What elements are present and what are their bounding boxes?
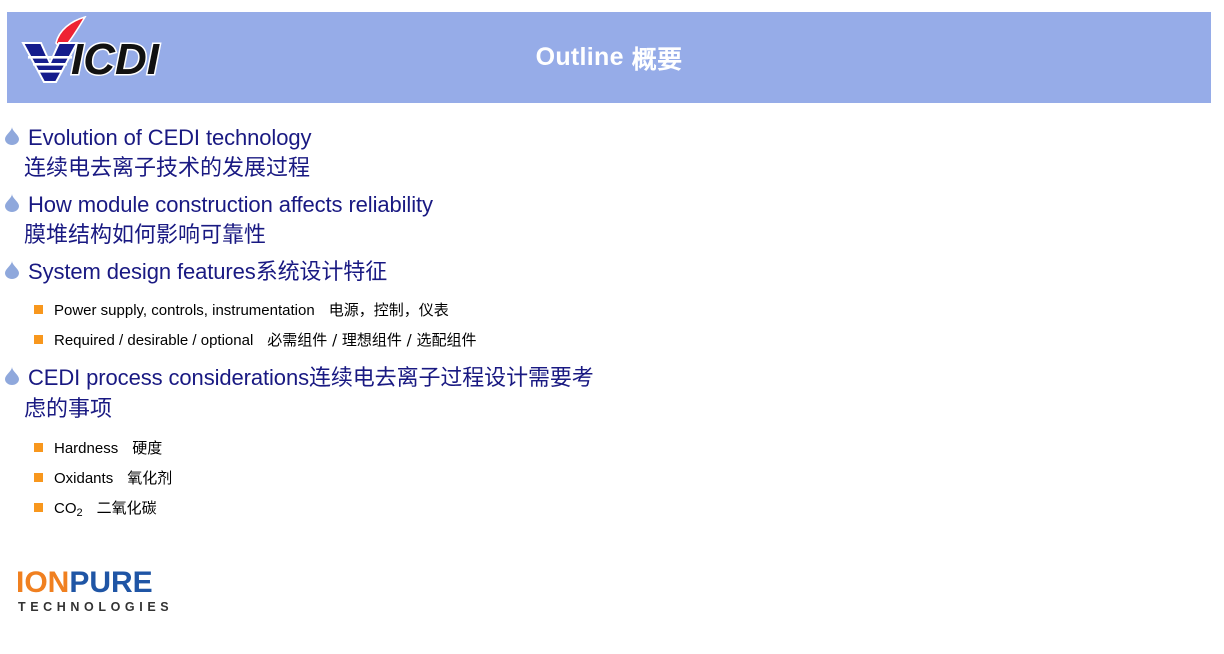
outline-item-4-child-1-label: Hardness硬度 — [54, 436, 1224, 461]
ionpure-wordmark-ion: ION — [16, 566, 69, 599]
child-label-en: Required / desirable / optional — [54, 332, 253, 349]
child-label-cjk: 硬度 — [118, 439, 162, 457]
child-label-en: Hardness — [54, 440, 118, 457]
v-line-2 — [33, 63, 67, 66]
outline-item-1-translation: 连续电去离子技术的发展过程 — [0, 153, 1224, 185]
v-shape — [23, 43, 77, 82]
orange-square-icon — [34, 503, 43, 512]
v-line-3 — [38, 70, 62, 73]
page-title-en: Outline — [536, 43, 624, 72]
child-label-cjk: 必需组件 / 理想组件 / 选配组件 — [253, 331, 476, 349]
icdi-logo: ICDI — [15, 16, 195, 88]
page-title-cjk: 概要 — [624, 40, 683, 76]
spacer — [0, 426, 1224, 432]
outline-item-3-child-2-label: Required / desirable / optional必需组件 / 理想… — [54, 328, 1224, 353]
water-drop-icon — [4, 194, 20, 212]
ionpure-wordmark-pure: PURE — [69, 566, 152, 599]
outline-item-4-child-1[interactable]: Hardness硬度 — [0, 436, 1224, 462]
v-line-1 — [28, 56, 72, 59]
outline-item-3-child-1-label: Power supply, controls, instrumentation电… — [54, 298, 1224, 323]
orange-square-icon — [34, 335, 43, 344]
outline-item-3-child-2[interactable]: Required / desirable / optional必需组件 / 理想… — [0, 328, 1224, 354]
outline-item-4-child-2[interactable]: Oxidants氧化剂 — [0, 466, 1224, 492]
ionpure-logo: IONPURE TECHNOLOGIES — [16, 567, 173, 615]
ionpure-tagline: TECHNOLOGIES — [16, 599, 173, 615]
outline-item-4-child-3-label: CO2二氧化碳 — [54, 496, 1224, 525]
outline-content: Evolution of CEDI technology 连续电去离子技术的发展… — [0, 122, 1224, 525]
spacer — [0, 354, 1224, 362]
outline-item-3[interactable]: System design features系统设计特征 — [0, 256, 1224, 288]
water-drop-icon — [4, 367, 20, 385]
outline-item-4-child-2-label: Oxidants氧化剂 — [54, 466, 1224, 491]
orange-square-icon — [34, 473, 43, 482]
outline-item-4-child-3[interactable]: CO2二氧化碳 — [0, 496, 1224, 525]
outline-item-3-child-1[interactable]: Power supply, controls, instrumentation电… — [0, 298, 1224, 324]
water-drop-icon — [4, 261, 20, 279]
icdi-logo-graphic: ICDI — [15, 16, 195, 88]
outline-item-2-translation: 膜堆结构如何影响可靠性 — [0, 220, 1224, 252]
icdi-wordmark: ICDI — [71, 35, 160, 84]
child-label-cjk: 氧化剂 — [113, 469, 172, 487]
child-label-cjk: 电源，控制，仪表 — [315, 301, 449, 319]
outline-item-4[interactable]: CEDI process considerations连续电去离子过程设计需要考 — [0, 362, 1224, 394]
outline-item-1[interactable]: Evolution of CEDI technology — [0, 122, 1224, 153]
spacer — [0, 288, 1224, 294]
outline-item-4-label-cjk: 连续电去离子过程设计需要考 — [309, 366, 594, 391]
outline-item-4-label: CEDI process considerations连续电去离子过程设计需要考 — [28, 362, 1224, 394]
outline-item-2-label: How module construction affects reliabil… — [28, 189, 1224, 220]
child-label-en: CO — [54, 500, 77, 517]
outline-item-1-label: Evolution of CEDI technology — [28, 122, 1224, 153]
ionpure-wordmark: IONPURE — [16, 567, 173, 599]
outline-item-2[interactable]: How module construction affects reliabil… — [0, 189, 1224, 220]
slide: Outline 概要 ICDI Evolution of C — [0, 0, 1224, 654]
outline-item-4-label-en: CEDI process considerations — [28, 365, 309, 390]
child-label-subscript: 2 — [77, 507, 83, 519]
child-label-en: Power supply, controls, instrumentation — [54, 302, 315, 319]
child-label-cjk: 二氧化碳 — [83, 499, 157, 517]
water-drop-icon — [4, 127, 20, 145]
child-label-en: Oxidants — [54, 470, 113, 487]
outline-item-4-translation: 虑的事项 — [0, 394, 1224, 426]
orange-square-icon — [34, 443, 43, 452]
orange-square-icon — [34, 305, 43, 314]
outline-item-3-label-en: System design features — [28, 259, 256, 284]
outline-item-3-label-cjk: 系统设计特征 — [256, 260, 387, 285]
outline-item-3-label: System design features系统设计特征 — [28, 256, 1224, 288]
